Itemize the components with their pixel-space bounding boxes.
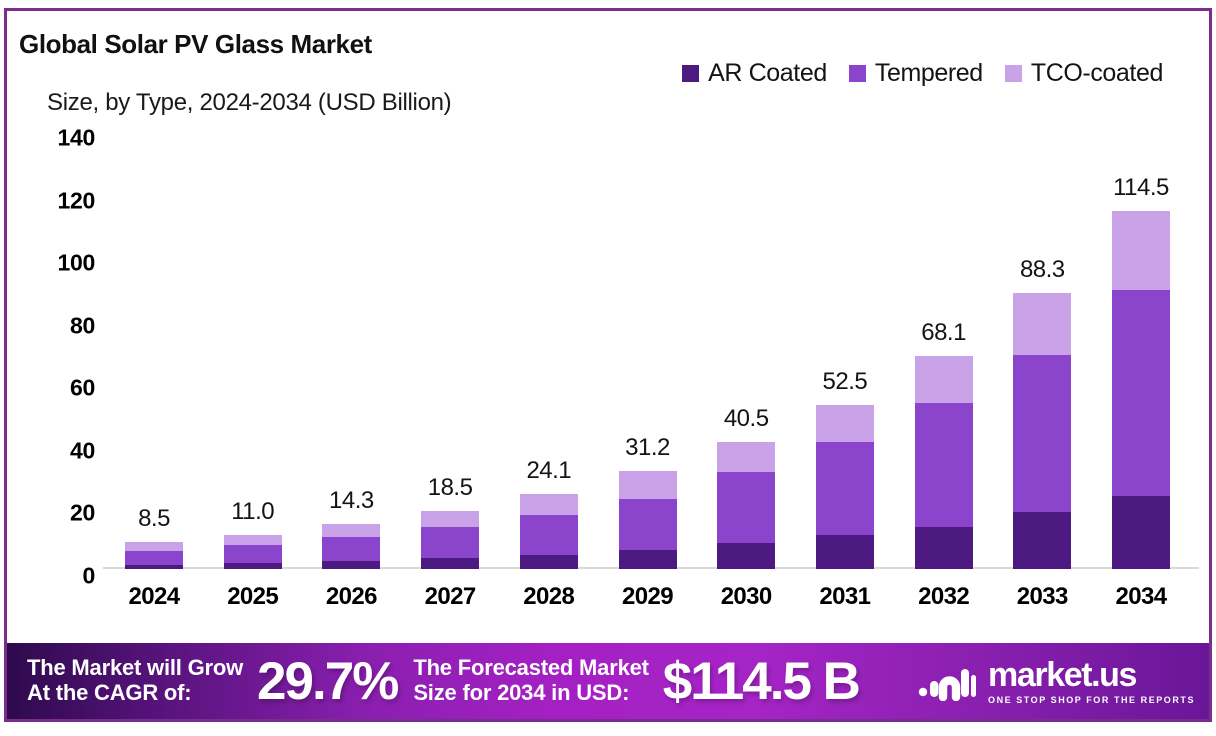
bar-total-label: 11.0 [231, 498, 274, 526]
logo-wordmark: market.us [988, 658, 1195, 692]
bar-segment-ar-coated[interactable] [915, 527, 973, 569]
bar-stack[interactable]: 114.5 [1112, 211, 1170, 569]
bar-total-label: 18.5 [428, 474, 473, 502]
cagr-caption-line1: The Market will Grow [27, 656, 243, 681]
bar-segment-tempered[interactable] [520, 515, 578, 555]
chart-card: Global Solar PV Glass Market Size, by Ty… [4, 8, 1212, 722]
cagr-value: 29.7% [257, 655, 397, 708]
legend-swatch-icon [682, 65, 699, 82]
y-axis-tick-label: 80 [70, 312, 95, 339]
bar-segment-tempered[interactable] [915, 403, 973, 527]
forecast-value: $114.5 B [663, 655, 859, 708]
bar-segment-ar-coated[interactable] [619, 550, 677, 569]
bar-total-label: 31.2 [625, 434, 670, 462]
bar-segment-tco-coated[interactable] [717, 442, 775, 472]
bar-segment-tco-coated[interactable] [619, 471, 677, 498]
bar-total-label: 68.1 [921, 319, 966, 347]
bar-segment-tco-coated[interactable] [1013, 293, 1071, 355]
bar-stack[interactable]: 68.1 [915, 356, 973, 569]
legend-swatch-icon [849, 65, 866, 82]
bar-total-label: 114.5 [1113, 174, 1169, 202]
legend-label: TCO-coated [1031, 59, 1163, 88]
bar-segment-tco-coated[interactable] [421, 511, 479, 527]
bar-segment-ar-coated[interactable] [520, 555, 578, 569]
bar-stack[interactable]: 24.1 [520, 494, 578, 569]
bottom-banner: The Market will Grow At the CAGR of: 29.… [7, 643, 1209, 719]
bar-segment-ar-coated[interactable] [224, 563, 282, 569]
bar-stack[interactable]: 8.5 [125, 542, 183, 569]
bar-total-label: 8.5 [138, 505, 170, 533]
bar-segment-ar-coated[interactable] [125, 565, 183, 569]
bar-segment-ar-coated[interactable] [421, 558, 479, 569]
chart-legend: AR CoatedTemperedTCO-coated [682, 59, 1163, 88]
bar-total-label: 24.1 [526, 457, 571, 485]
bar-segment-tco-coated[interactable] [816, 405, 874, 443]
bar-segment-tempered[interactable] [816, 442, 874, 534]
bar-segment-tempered[interactable] [1112, 290, 1170, 496]
bar-segment-ar-coated[interactable] [322, 561, 380, 569]
bar-stack[interactable]: 52.5 [816, 405, 874, 569]
x-axis-tick-label: 2026 [322, 583, 380, 611]
bar-segment-ar-coated[interactable] [1013, 512, 1071, 569]
chart-plot-area: 020406080100120140 8.5202411.0202514.320… [7, 131, 1209, 621]
bar-stack[interactable]: 11.0 [224, 535, 282, 569]
x-axis-tick-label: 2027 [421, 583, 479, 611]
bar-segment-tco-coated[interactable] [125, 542, 183, 551]
x-axis-tick-label: 2030 [717, 583, 775, 611]
y-axis-tick-label: 140 [58, 125, 95, 152]
bar-total-label: 40.5 [724, 405, 769, 433]
x-axis-tick-label: 2025 [224, 583, 282, 611]
bar-total-label: 52.5 [823, 368, 868, 396]
cagr-caption: The Market will Grow At the CAGR of: [27, 656, 243, 705]
y-axis-tick-label: 120 [58, 187, 95, 214]
legend-item[interactable]: Tempered [849, 59, 983, 88]
logo-tagline: ONE STOP SHOP FOR THE REPORTS [988, 696, 1195, 705]
legend-item[interactable]: AR Coated [682, 59, 827, 88]
bar-segment-tco-coated[interactable] [1112, 211, 1170, 290]
logo-text: market.us ONE STOP SHOP FOR THE REPORTS [988, 658, 1195, 705]
legend-swatch-icon [1005, 65, 1022, 82]
bar-segment-ar-coated[interactable] [816, 535, 874, 569]
bar-segment-tempered[interactable] [421, 527, 479, 558]
legend-label: AR Coated [708, 59, 827, 88]
bar-total-label: 88.3 [1020, 256, 1065, 284]
bar-stack[interactable]: 40.5 [717, 442, 775, 569]
chart-subtitle: Size, by Type, 2024-2034 (USD Billion) [47, 89, 451, 117]
y-axis: 020406080100120140 [7, 131, 103, 576]
forecast-caption-line2: Size for 2034 in USD: [413, 681, 648, 706]
bars-container: 8.5202411.0202514.3202618.5202724.120283… [103, 131, 1199, 576]
y-axis-tick-label: 0 [83, 563, 96, 590]
legend-item[interactable]: TCO-coated [1005, 59, 1163, 88]
forecast-caption: The Forecasted Market Size for 2034 in U… [413, 656, 648, 705]
bar-segment-ar-coated[interactable] [1112, 496, 1170, 569]
x-axis-tick-label: 2034 [1112, 583, 1170, 611]
bar-segment-tco-coated[interactable] [322, 524, 380, 537]
y-axis-tick-label: 20 [70, 500, 95, 527]
bar-segment-tco-coated[interactable] [915, 356, 973, 403]
market-us-logo[interactable]: market.us ONE STOP SHOP FOR THE REPORTS [918, 658, 1195, 705]
market-us-logo-icon [918, 661, 976, 701]
page-title: Global Solar PV Glass Market [19, 29, 372, 60]
x-axis-tick-label: 2024 [125, 583, 183, 611]
x-axis-tick-label: 2033 [1013, 583, 1071, 611]
x-axis-tick-label: 2029 [619, 583, 677, 611]
bar-segment-tempered[interactable] [224, 545, 282, 563]
legend-label: Tempered [875, 59, 983, 88]
bar-segment-tempered[interactable] [619, 499, 677, 550]
y-axis-tick-label: 40 [70, 437, 95, 464]
bar-segment-tempered[interactable] [717, 472, 775, 543]
bar-segment-tempered[interactable] [125, 551, 183, 564]
bar-segment-ar-coated[interactable] [717, 543, 775, 569]
bar-segment-tco-coated[interactable] [520, 494, 578, 515]
bar-stack[interactable]: 88.3 [1013, 293, 1071, 569]
bar-segment-tempered[interactable] [322, 537, 380, 560]
cagr-caption-line2: At the CAGR of: [27, 681, 243, 706]
bar-stack[interactable]: 31.2 [619, 471, 677, 569]
x-axis-tick-label: 2028 [520, 583, 578, 611]
x-axis-tick-label: 2031 [816, 583, 874, 611]
y-axis-tick-label: 60 [70, 375, 95, 402]
bar-stack[interactable]: 18.5 [421, 511, 479, 569]
bar-segment-tco-coated[interactable] [224, 535, 282, 546]
y-axis-tick-label: 100 [58, 250, 95, 277]
bar-total-label: 14.3 [329, 487, 374, 515]
bar-segment-tempered[interactable] [1013, 355, 1071, 512]
forecast-caption-line1: The Forecasted Market [413, 656, 648, 681]
bar-stack[interactable]: 14.3 [322, 524, 380, 569]
x-axis-tick-label: 2032 [915, 583, 973, 611]
